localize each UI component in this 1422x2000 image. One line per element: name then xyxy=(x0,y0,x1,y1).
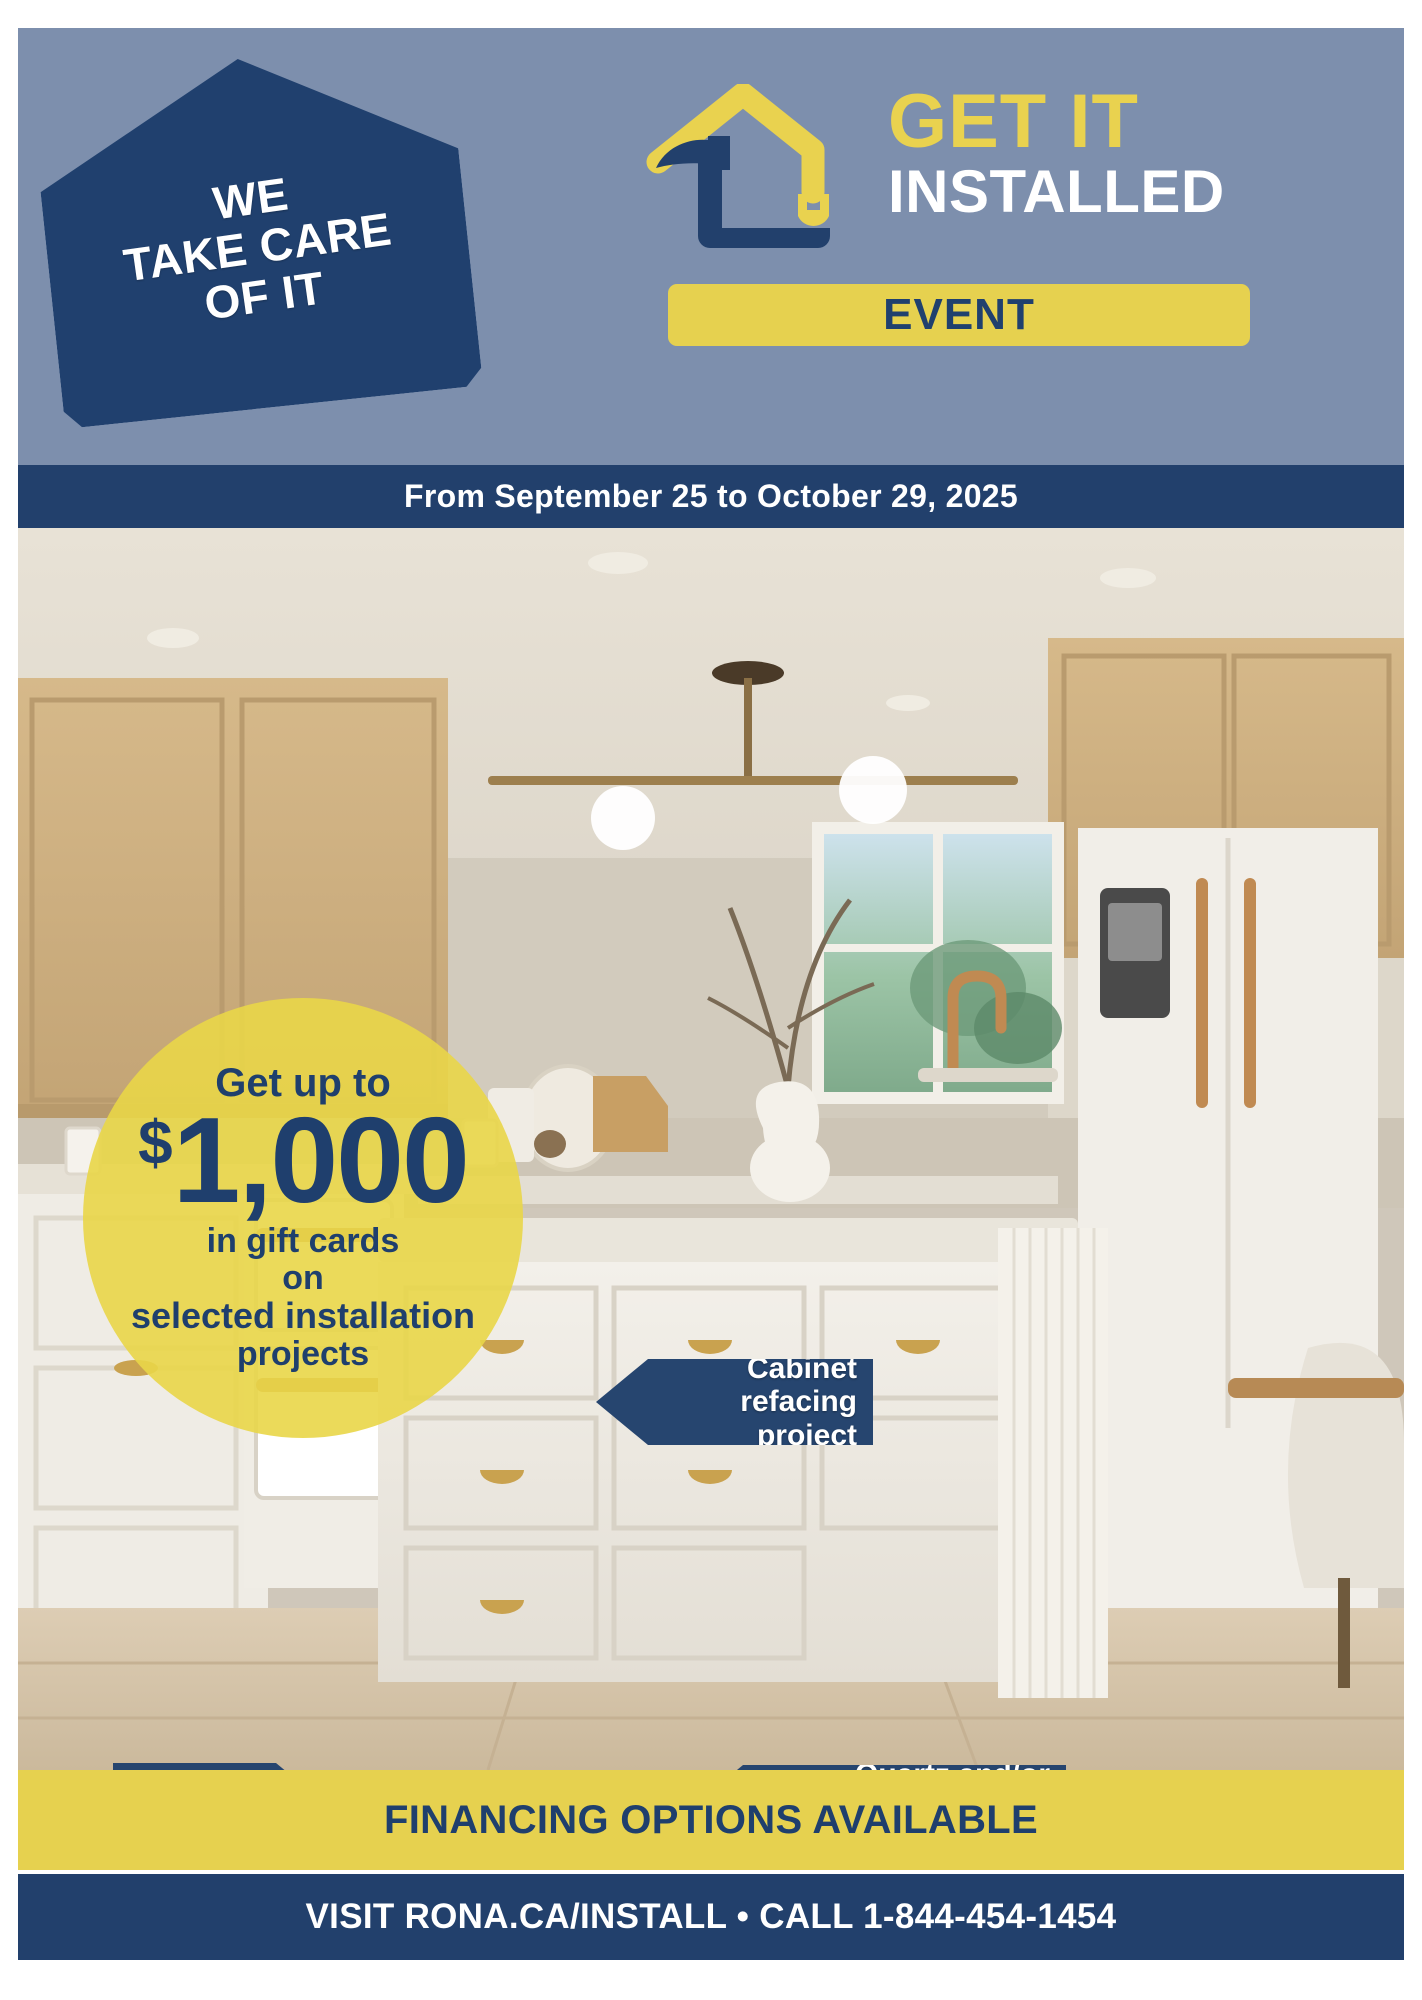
financing-bar: FINANCING OPTIONS AVAILABLE xyxy=(18,1770,1404,1870)
financing-label: FINANCING OPTIONS AVAILABLE xyxy=(384,1798,1038,1843)
contact-label[interactable]: VISIT RONA.CA/INSTALL • CALL 1-844-454-1… xyxy=(306,1897,1117,1937)
currency-symbol: $ xyxy=(138,1113,170,1175)
event-badge: EVENT xyxy=(668,284,1250,346)
callout-cabinet-refacing: Cabinet refacing project xyxy=(596,1359,873,1445)
logo-line-installed: INSTALLED xyxy=(888,162,1258,222)
event-label: EVENT xyxy=(883,290,1035,340)
offer-line-4: projects xyxy=(131,1336,475,1373)
logo-line-get-it: GET IT xyxy=(888,86,1258,158)
house-hammer-wrench-icon xyxy=(638,84,868,264)
logo-wordmark: GET IT INSTALLED xyxy=(888,86,1258,222)
offer-subtext: in gift cards on selected installation p… xyxy=(131,1223,475,1372)
offer-line-2: on xyxy=(131,1260,475,1297)
offer-line-3: selected installation xyxy=(131,1297,475,1336)
offer-amount: $ 1,000 xyxy=(138,1099,468,1221)
flyer-page: WE TAKE CARE OF IT GET IT INSTALLED xyxy=(0,0,1422,2000)
kitchen-photo: Get up to $ 1,000 in gift cards on selec… xyxy=(18,528,1404,1770)
contact-bar: VISIT RONA.CA/INSTALL • CALL 1-844-454-1… xyxy=(18,1874,1404,1960)
we-take-care-badge: WE TAKE CARE OF IT xyxy=(29,37,483,429)
amount-value: 1,000 xyxy=(173,1099,468,1221)
promo-date-bar: From September 25 to October 29, 2025 xyxy=(18,465,1404,528)
offer-line-1: in gift cards xyxy=(131,1223,475,1260)
callout-label: Cabinet refacing project xyxy=(666,1352,857,1453)
header-banner: WE TAKE CARE OF IT GET IT INSTALLED xyxy=(18,28,1404,465)
offer-circle: Get up to $ 1,000 in gift cards on selec… xyxy=(83,998,523,1438)
promo-dates: From September 25 to October 29, 2025 xyxy=(404,478,1018,515)
get-it-installed-logo: GET IT INSTALLED EVENT xyxy=(638,76,1258,376)
